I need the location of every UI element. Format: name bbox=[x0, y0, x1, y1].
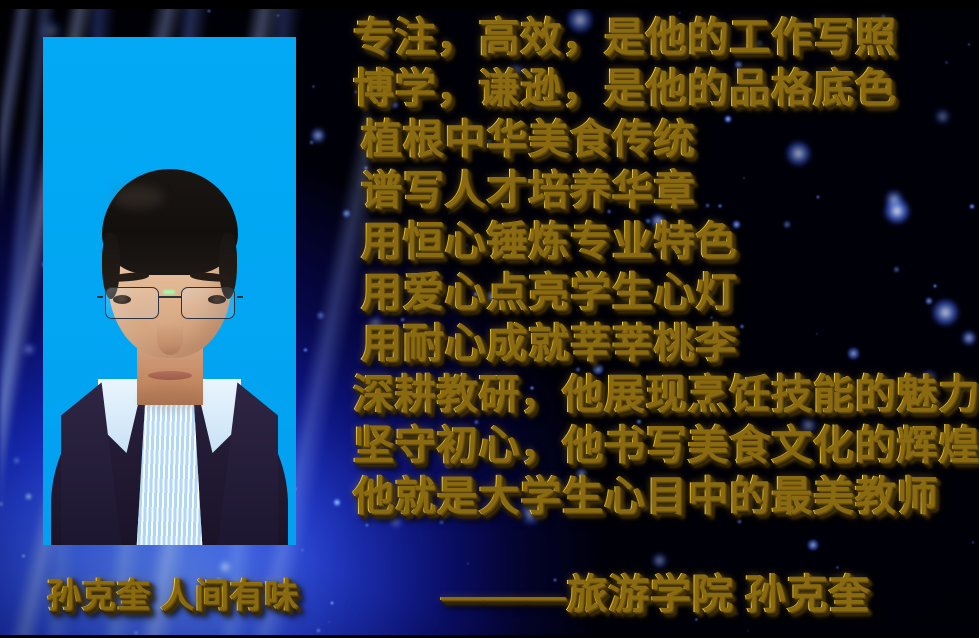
poem-line-1: 专注，高效，是他的工作写照 bbox=[352, 12, 972, 63]
photo-mouth bbox=[148, 371, 192, 380]
poem-line-5: 用恒心锤炼专业特色 bbox=[352, 216, 972, 267]
glasses-arm-right bbox=[237, 296, 243, 298]
tribute-slide: 专注，高效，是他的工作写照 博学，谦逊，是他的品格底色 植根中华美食传统 谱写人… bbox=[0, 0, 979, 638]
poem-line-10: 他就是大学生心目中的最美教师 bbox=[352, 471, 972, 522]
portrait-photo bbox=[43, 37, 296, 545]
poem-line-7: 用耐心成就莘莘桃李 bbox=[352, 318, 972, 369]
glasses-bridge bbox=[159, 296, 181, 298]
glasses-lens-right bbox=[181, 287, 235, 319]
photo-nose bbox=[157, 323, 183, 355]
glasses-lens-left bbox=[105, 287, 159, 319]
poem-line-8: 深耕教研，他展现烹饪技能的魅力 bbox=[352, 369, 972, 420]
glasses-glare bbox=[163, 290, 175, 294]
poem-line-9: 坚守初心，他书写美食文化的辉煌 bbox=[352, 420, 972, 471]
glasses-icon bbox=[103, 287, 237, 321]
poem-line-6: 用爱心点亮学生心灯 bbox=[352, 267, 972, 318]
top-letterbox-bar bbox=[0, 0, 979, 9]
photo-caption: 孙克奎 人间有味 bbox=[46, 574, 298, 620]
glasses-arm-left bbox=[97, 296, 103, 298]
poem-block: 专注，高效，是他的工作写照 博学，谦逊，是他的品格底色 植根中华美食传统 谱写人… bbox=[352, 12, 972, 522]
poem-line-2: 博学，谦逊，是他的品格底色 bbox=[352, 63, 972, 114]
poem-line-3: 植根中华美食传统 bbox=[352, 114, 972, 165]
poem-line-4: 谱写人才培养华章 bbox=[352, 165, 972, 216]
signature-attribution: ———旅游学院 孙克奎 bbox=[440, 568, 869, 620]
photo-chin bbox=[139, 385, 201, 413]
